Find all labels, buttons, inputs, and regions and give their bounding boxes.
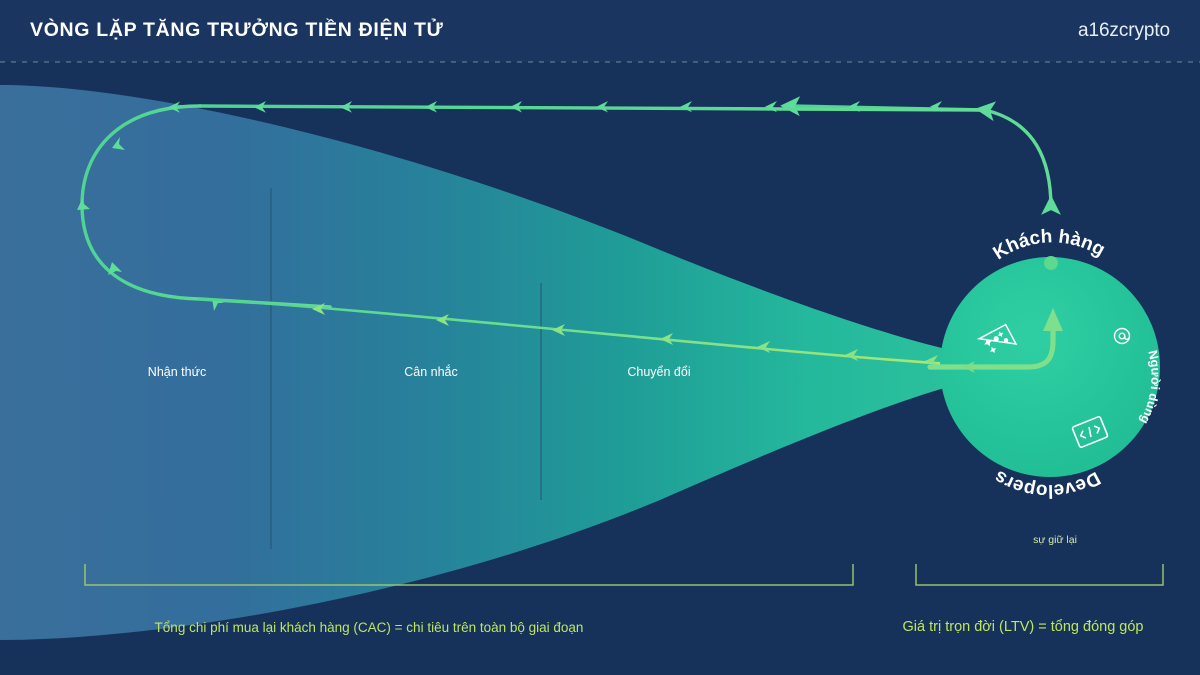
header-divider xyxy=(0,61,1200,63)
page-title: VÒNG LẶP TĂNG TRƯỞNG TIỀN ĐIỆN TỬ xyxy=(30,19,444,42)
slide-canvas: Khách hàng Developers Người dùng xyxy=(0,0,1200,675)
retention-label: sự giữ lại xyxy=(1033,534,1077,546)
slide-header: VÒNG LẶP TĂNG TRƯỞNG TIỀN ĐIỆN TỬ a16zcr… xyxy=(0,0,1200,62)
growth-loop-diagram: Khách hàng Developers Người dùng xyxy=(0,0,1200,675)
stage-label-awareness: Nhận thức xyxy=(148,365,206,379)
stage-label-conversion: Chuyển đổi xyxy=(627,365,690,379)
brand-logo: a16zcrypto xyxy=(1078,20,1170,42)
caption-cac: Tổng chi phí mua lại khách hàng (CAC) = … xyxy=(155,620,584,635)
stage-label-consideration: Cân nhắc xyxy=(404,365,458,379)
wheel-entry-dot xyxy=(1044,256,1058,270)
caption-ltv: Giá trị trọn đời (LTV) = tổng đóng góp xyxy=(903,619,1144,635)
